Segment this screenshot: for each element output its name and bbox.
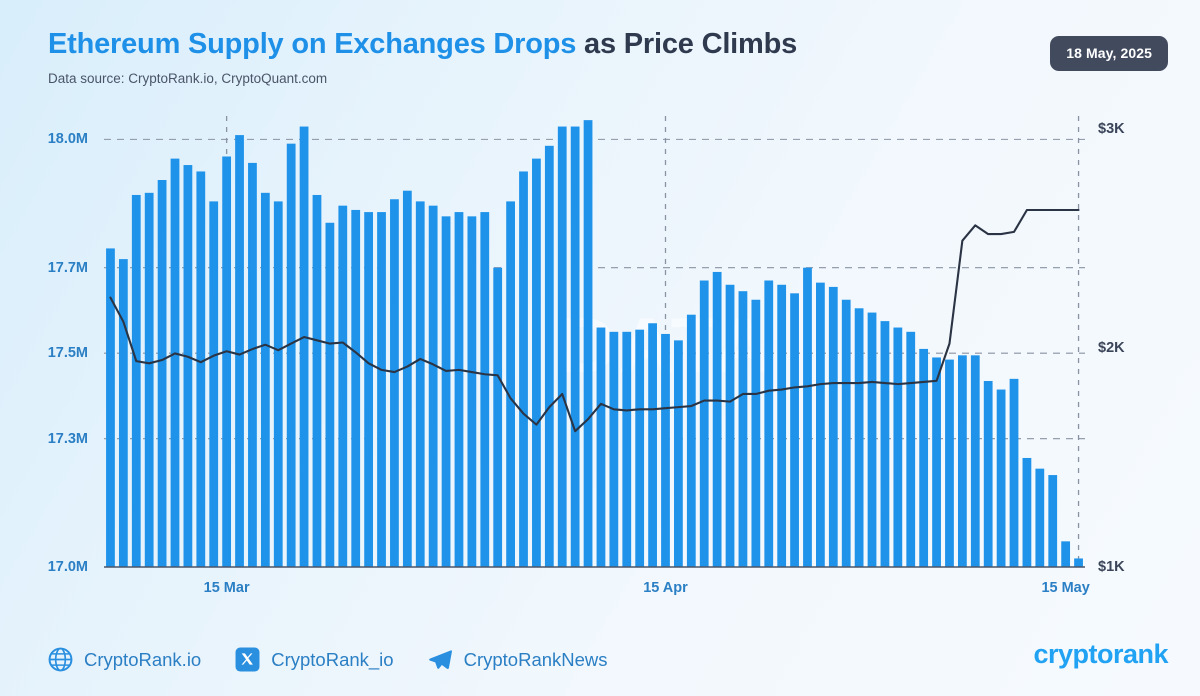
bar [751,300,760,567]
bar [945,360,954,567]
bar [506,201,515,567]
y-axis-right-tick: $3K [1098,121,1125,137]
bar [196,171,205,567]
bar [571,127,580,567]
bar [248,163,257,567]
social-link-website[interactable]: CryptoRank.io [48,647,201,672]
y-axis-left-tick: 17.7M [18,260,88,276]
bar [635,330,644,567]
bar [906,332,915,567]
bar-series [106,120,1083,567]
bar [790,293,799,567]
bar [261,193,270,567]
y-axis-left-tick: 17.5M [18,345,88,361]
chart-canvas [0,0,1200,696]
bar [145,193,154,567]
bar [338,206,347,567]
y-axis-left-tick: 17.0M [18,559,88,575]
bar [377,212,386,567]
bar [545,146,554,567]
telegram-icon [428,647,453,672]
bar [119,259,128,567]
social-link-twitter[interactable]: CryptoRank_io [235,647,393,672]
bar [881,321,890,567]
bar [609,332,618,567]
bar [713,272,722,567]
bar [984,381,993,567]
bar [532,159,541,567]
bar [648,323,657,567]
bar [364,212,373,567]
bar [132,195,141,567]
bar [429,206,438,567]
bar [893,328,902,567]
bar [842,300,851,567]
bar [661,334,670,567]
bar [209,201,218,567]
cryptorank-logo-text: cryptorank [1033,639,1168,670]
bar [1010,379,1019,567]
bar [829,287,838,567]
bar [416,201,425,567]
bar [971,355,980,567]
bar [1035,469,1044,567]
bar [674,340,683,567]
bar [687,315,696,567]
bar [855,308,864,567]
bar [390,199,399,567]
bar [584,120,593,567]
cryptorank-logo: cryptorank [1033,639,1168,670]
bar [519,171,528,567]
bar [184,165,193,567]
bar [816,283,825,567]
bar [493,268,502,567]
bar [1074,558,1083,567]
bar [171,159,180,567]
bar [739,291,748,567]
bar [287,144,296,567]
bar [1048,475,1057,567]
bar [235,135,244,567]
bar [803,268,812,567]
bar [326,223,335,567]
bar [274,201,283,567]
bar [467,216,476,567]
bar [1061,541,1070,567]
footer-socials: CryptoRank.io CryptoRank_io CryptoRankNe… [48,647,608,672]
y-axis-left-tick: 18.0M [18,131,88,147]
bar [764,281,773,568]
bar [1023,458,1032,567]
x-twitter-icon [235,647,260,672]
bar [480,212,489,567]
infographic-root: Ethereum Supply on Exchanges Drops as Pr… [0,0,1200,696]
x-axis-tick: 15 Apr [643,580,688,596]
bar [300,127,309,567]
social-label-telegram: CryptoRankNews [464,649,608,671]
chart-container: DATA 17.0M17.3M17.5M17.7M18.0M $1K$2K$3K… [0,0,1200,696]
bar [222,156,231,567]
bar [932,357,941,567]
bar [597,328,606,567]
x-axis-tick: 15 Mar [204,580,250,596]
bar [313,195,322,567]
globe-icon [48,647,73,672]
social-link-telegram[interactable]: CryptoRankNews [428,647,608,672]
bar [455,212,464,567]
bar [351,210,360,567]
social-label-website: CryptoRank.io [84,649,201,671]
bar [726,285,735,567]
bar [622,332,631,567]
y-axis-left-tick: 17.3M [18,431,88,447]
social-label-twitter: CryptoRank_io [271,649,393,671]
bar [106,248,115,567]
bar [158,180,167,567]
x-axis-tick: 15 May [1041,580,1089,596]
bar [700,281,709,568]
bar [958,355,967,567]
bar [442,216,451,567]
bar [403,191,412,567]
bar [558,127,567,567]
y-axis-right-tick: $2K [1098,340,1125,356]
bar [997,390,1006,567]
y-axis-right-tick: $1K [1098,559,1125,575]
bar [868,313,877,567]
bar [777,285,786,567]
